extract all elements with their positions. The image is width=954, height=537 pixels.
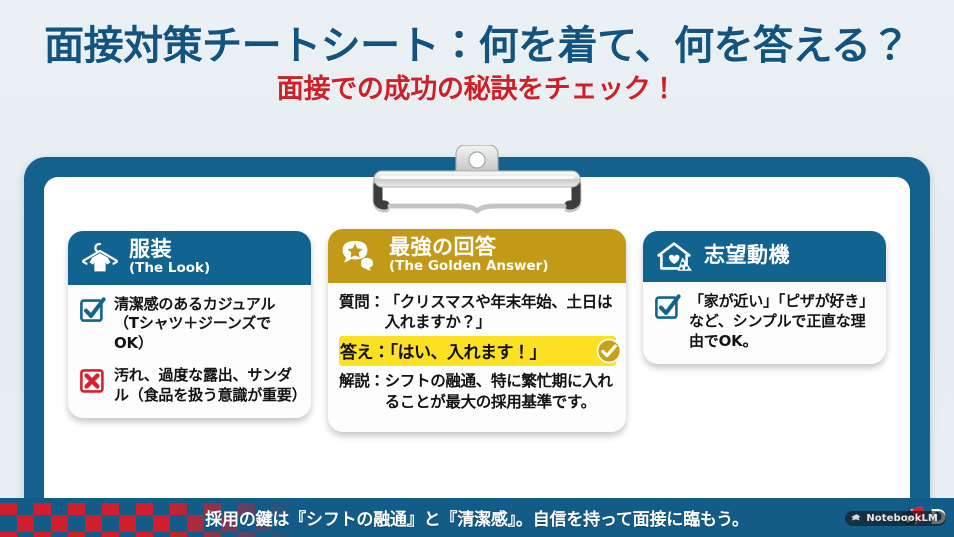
footer-bar: 採用の鍵は『シフトの融通』と『清潔感』。自信を持って面接に臨もう。 D Note… [0, 498, 954, 537]
hanger-shirt-icon [80, 240, 120, 274]
page-title: 面接対策チートシート：何を着て、何を答える？ [0, 24, 954, 68]
list-item-text: 「家が近い」「ピザが好き」など、シンプルで正直な理由でOK。 [689, 292, 875, 352]
notebooklm-icon [851, 513, 862, 524]
explanation-row: 解説： シフトの融通、特に繁忙期に入れることが最大の採用基準です。 [339, 371, 616, 412]
answer-text: 答え：「はい、入れます！」 [340, 338, 546, 363]
card-motivation-title: 志望動機 [704, 245, 790, 268]
list-item: 清潔感のあるカジュアル（Tシャツ＋ジーンズでOK） [79, 295, 300, 355]
card-look[interactable]: 服装 (The Look) 清潔感のあるカジュアル（Tシャツ＋ジーンズでOK） [68, 231, 311, 418]
notebooklm-watermark: NotebookLM [845, 511, 946, 526]
card-golden-answer-body: 質問： 「クリスマスや年末年始、土日は入れますか？」 答え：「はい、入れます！」… [328, 283, 626, 433]
card-look-header: 服装 (The Look) [68, 231, 311, 285]
card-golden-answer-title: 最強の回答 (The Golden Answer) [389, 237, 549, 274]
page-subtitle: 面接での成功の秘訣をチェック！ [0, 75, 954, 105]
question-text: 「クリスマスや年末年始、土日は入れますか？」 [385, 292, 616, 333]
answer-highlight-row: 答え：「はい、入れます！」 [339, 336, 616, 366]
cross-box-icon [79, 367, 106, 394]
watermark-label: NotebookLM [866, 513, 938, 524]
list-item: 「家が近い」「ピザが好き」など、シンプルで正直な理由でOK。 [654, 292, 875, 352]
explanation-label: 解説： [339, 371, 385, 391]
card-golden-answer-header: 最強の回答 (The Golden Answer) [328, 229, 626, 283]
speech-bubble-star-icon [340, 238, 380, 272]
checkbox-check-icon [654, 293, 681, 320]
checkbox-check-icon [79, 296, 106, 323]
question-label: 質問： [339, 292, 385, 312]
house-heart-pizza-icon [655, 239, 695, 273]
card-look-body: 清潔感のあるカジュアル（Tシャツ＋ジーンズでOK） 汚れ、過度な露出、サンダル（… [68, 285, 311, 419]
list-item-text: 汚れ、過度な露出、サンダル（食品を扱う意識が重要） [114, 366, 300, 406]
card-motivation[interactable]: 志望動機 「家が近い」「ピザが好き」など、シンプルで正直な理由でOK。 [643, 231, 886, 364]
footer-message: 採用の鍵は『シフトの融通』と『清潔感』。自信を持って面接に臨もう。 [0, 498, 954, 537]
list-item: 汚れ、過度な露出、サンダル（食品を扱う意識が重要） [79, 366, 300, 406]
card-motivation-header: 志望動機 [643, 231, 886, 282]
clipboard-clip-icon [354, 145, 600, 223]
explanation-text: シフトの融通、特に繁忙期に入れることが最大の採用基準です。 [385, 371, 616, 412]
card-golden-answer[interactable]: 最強の回答 (The Golden Answer) 質問： 「クリスマスや年末年… [328, 229, 626, 432]
list-item-text: 清潔感のあるカジュアル（Tシャツ＋ジーンズでOK） [114, 295, 300, 355]
title-block: 面接対策チートシート：何を着て、何を答える？ 面接での成功の秘訣をチェック！ [0, 24, 954, 105]
slide-canvas: 面接対策チートシート：何を着て、何を答える？ 面接での成功の秘訣をチェック！ [0, 0, 954, 537]
cards-row: 服装 (The Look) 清潔感のあるカジュアル（Tシャツ＋ジーンズでOK） [68, 231, 886, 499]
check-badge-icon [596, 338, 622, 364]
card-motivation-body: 「家が近い」「ピザが好き」など、シンプルで正直な理由でOK。 [643, 282, 886, 364]
card-look-title: 服装 (The Look) [129, 239, 210, 276]
clipboard-board: 服装 (The Look) 清潔感のあるカジュアル（Tシャツ＋ジーンズでOK） [24, 157, 930, 509]
question-row: 質問： 「クリスマスや年末年始、土日は入れますか？」 [339, 292, 616, 333]
